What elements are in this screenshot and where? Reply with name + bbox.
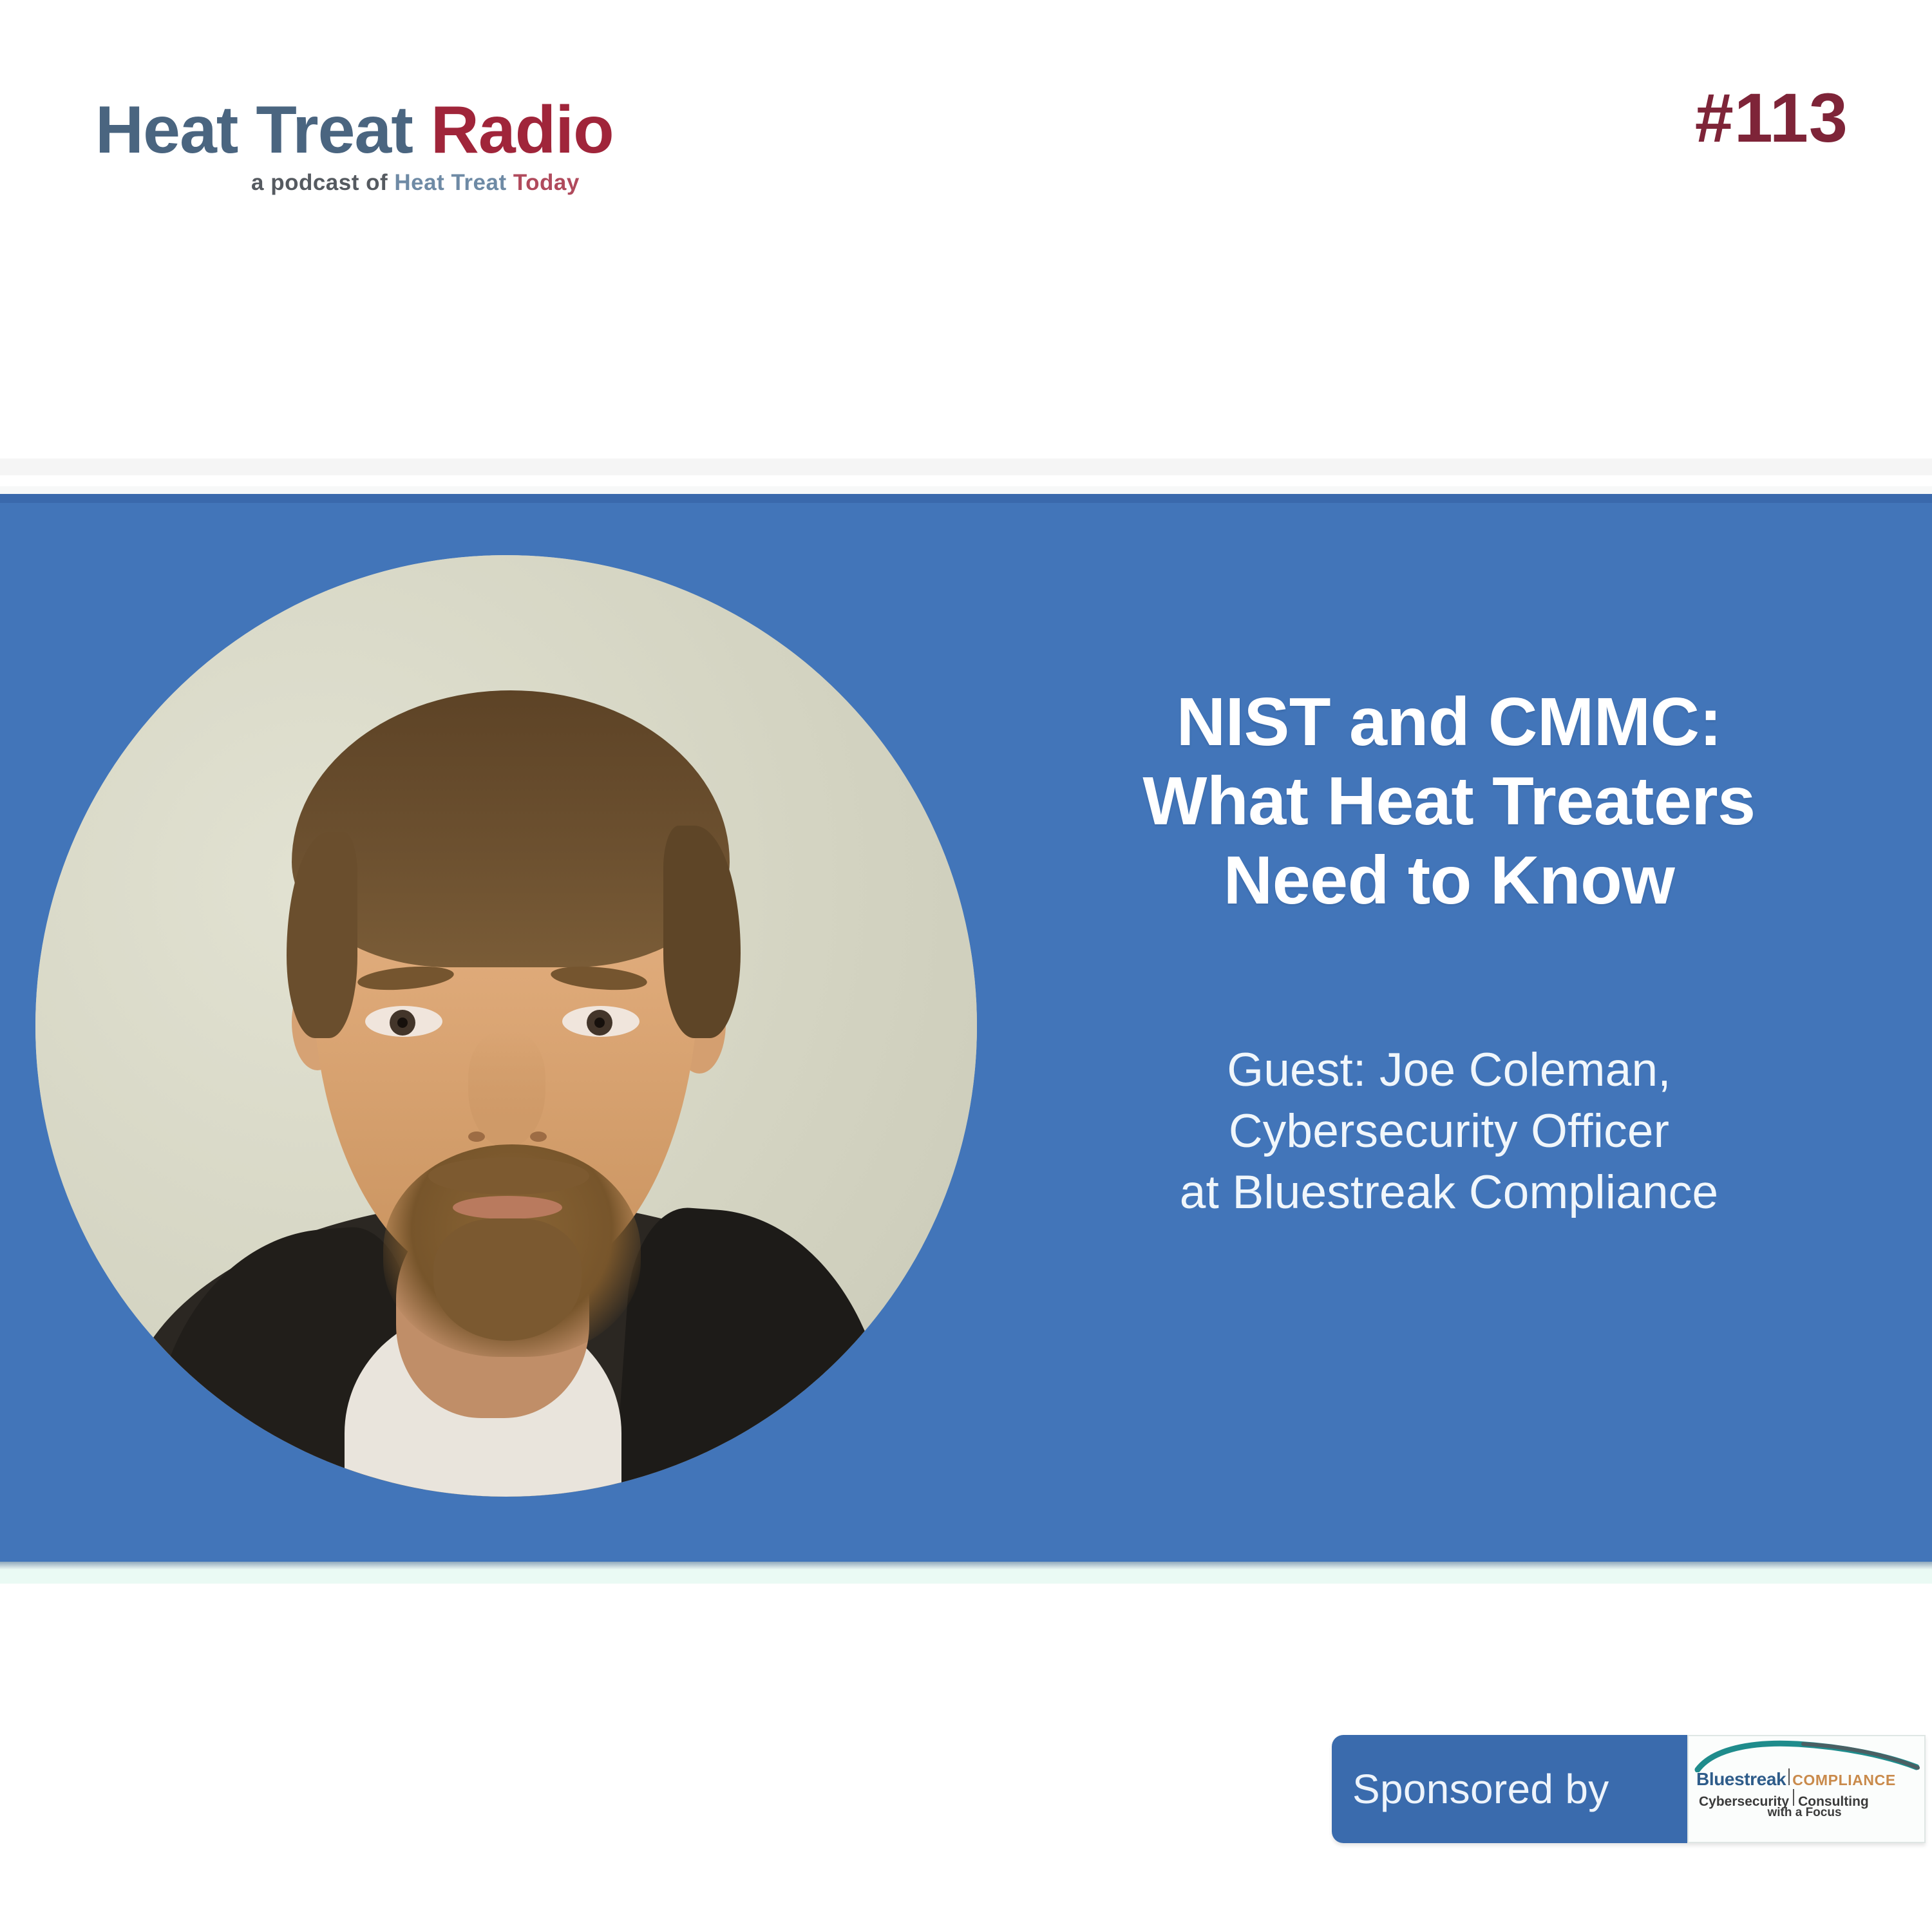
portrait-nostril-left [468, 1132, 485, 1142]
guest-line-3: at Bluestreak Compliance [992, 1162, 1906, 1224]
portrait-nostril-right [530, 1132, 547, 1142]
sponsor-label: Sponsored by [1352, 1765, 1609, 1813]
brand-word-primary: Heat Treat [95, 93, 413, 167]
episode-title-line-2: What Heat Treaters [992, 762, 1906, 841]
footer-whitespace [0, 1855, 1932, 1932]
portrait-chin-beard [433, 1218, 582, 1341]
portrait-eye-left [365, 1006, 442, 1037]
portrait-mustache [428, 1157, 589, 1195]
logo-primary-row: Bluestreak COMPLIANCE [1696, 1768, 1922, 1790]
guest-line-2: Cybersecurity Officer [992, 1101, 1906, 1162]
episode-number: #113 [1695, 77, 1848, 158]
portrait-pupil-left [397, 1018, 408, 1028]
logo-compliance-word: COMPLIANCE [1792, 1772, 1896, 1789]
hero-band-bottom-edge [0, 1562, 1932, 1569]
sponsor-label-panel: Sponsored by [1332, 1735, 1687, 1843]
episode-title-line-3: Need to Know [992, 841, 1906, 920]
logo-sub-divider [1793, 1789, 1794, 1806]
header-divider-gap [0, 475, 1932, 486]
episode-title: NIST and CMMC: What Heat Treaters Need t… [992, 683, 1906, 920]
guest-line-1: Guest: Joe Coleman, [992, 1040, 1906, 1101]
bluestreak-compliance-logo[interactable]: Bluestreak COMPLIANCE Cybersecurity Cons… [1687, 1735, 1926, 1843]
sponsor-badge[interactable]: Sponsored by Bluestreak COMPLIANCE Cyber… [1332, 1735, 1926, 1843]
portrait-eye-right [562, 1006, 639, 1037]
guest-portrait-illustration [35, 555, 977, 1497]
portrait-nose [468, 1032, 545, 1148]
header-bar: Heat Treat Radio a podcast of Heat Treat… [0, 0, 1932, 459]
episode-text-column: NIST and CMMC: What Heat Treaters Need t… [992, 683, 1906, 1224]
header-divider-strip [0, 459, 1932, 475]
heat-treat-radio-logo: Heat Treat Radio a podcast of Heat Treat… [95, 97, 688, 196]
hero-band-after-strip [0, 1569, 1932, 1584]
tagline-prefix: a podcast of [251, 170, 394, 195]
podcast-cover: Heat Treat Radio a podcast of Heat Treat… [0, 0, 1932, 1932]
header-divider-strip-secondary [0, 486, 1932, 494]
brand-wordmark: Heat Treat Radio [95, 97, 688, 164]
logo-brand-name: Bluestreak [1696, 1769, 1786, 1790]
logo-divider [1788, 1768, 1790, 1785]
tagline-today: Today [513, 170, 580, 195]
portrait-pupil-right [594, 1018, 605, 1028]
logo-tertiary-row: with a Focus [1689, 1806, 1920, 1820]
episode-title-line-1: NIST and CMMC: [992, 683, 1906, 762]
guest-portrait [35, 555, 977, 1497]
swoosh-icon [1694, 1739, 1920, 1772]
portrait-iris-left [390, 1010, 415, 1036]
tagline-heat-treat: Heat Treat [394, 170, 513, 195]
portrait-iris-right [587, 1010, 612, 1036]
brand-tagline: a podcast of Heat Treat Today [251, 170, 688, 196]
brand-word-accent: Radio [431, 93, 614, 167]
guest-credit: Guest: Joe Coleman, Cybersecurity Office… [992, 1040, 1906, 1224]
portrait-lips [453, 1196, 562, 1219]
